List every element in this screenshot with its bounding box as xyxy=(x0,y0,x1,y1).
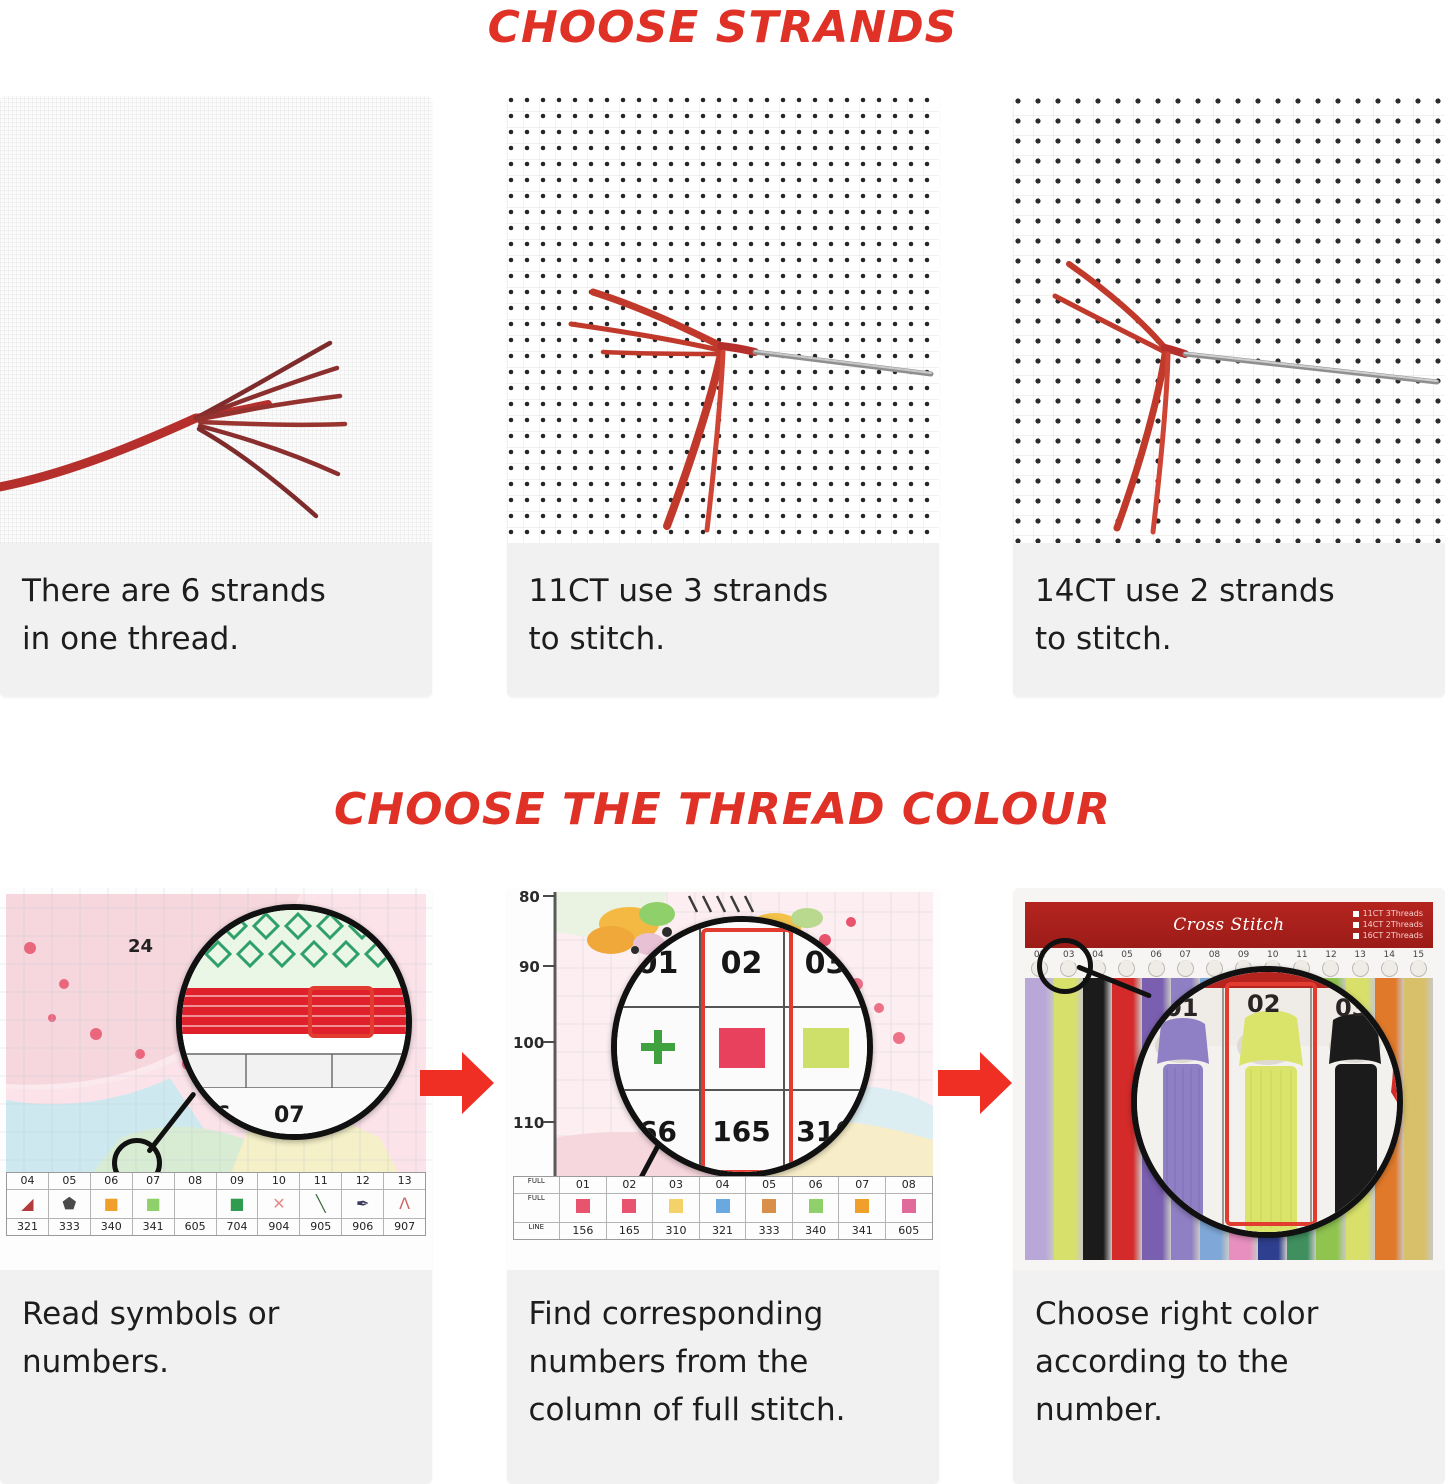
caption-line-2: in one thread. xyxy=(22,615,410,663)
checkbox-icon xyxy=(1353,922,1359,928)
thread-card-hole-label: 15 xyxy=(1413,950,1424,960)
caption-line-3: number. xyxy=(1035,1386,1423,1434)
lens-column-number: 02 xyxy=(701,922,783,1008)
strand-cards-row: There are 6 strands in one thread. xyxy=(0,96,1445,697)
thread-skein xyxy=(1404,978,1433,1260)
thread-skein xyxy=(1025,978,1054,1260)
needle xyxy=(1185,353,1437,382)
caption-find-numbers: Find corresponding numbers from the colu… xyxy=(507,1270,939,1484)
card-find-numbers: 80 90 100 110 01660216503310 xyxy=(507,888,939,1484)
caption-line-1: 11CT use 3 strands xyxy=(529,567,917,615)
legend-row-symbols: ◢⬟■■○■✕╲✒Λ xyxy=(7,1190,425,1219)
legend-code-cell: 704 xyxy=(217,1219,259,1235)
legend-number-cell: 06 xyxy=(793,1177,840,1194)
legend-symbol-cell xyxy=(607,1194,654,1223)
legend-number-cell: 08 xyxy=(175,1173,217,1190)
legend-code-cell: 156 xyxy=(560,1223,607,1239)
legend-symbol-cell: ╲ xyxy=(300,1190,342,1219)
lens-column-swatch-cell xyxy=(785,1008,867,1091)
legend-number-cell: 13 xyxy=(384,1173,425,1190)
legend-number-cell: 02 xyxy=(607,1177,654,1194)
legend-code-cell: 341 xyxy=(133,1219,175,1235)
svg-text:90: 90 xyxy=(519,958,540,976)
thread-card-hole-label: 11 xyxy=(1296,950,1307,960)
thread-card-hole-ring xyxy=(1410,960,1427,977)
photo-thread-card: Cross Stitch 11CT 3Threads14CT 2Threads1… xyxy=(1013,888,1445,1270)
lens-color-swatch xyxy=(803,1028,849,1068)
caption-read-symbols: Read symbols or numbers. xyxy=(0,1270,432,1484)
legend-number-cell: 05 xyxy=(49,1173,91,1190)
checkbox-icon xyxy=(1353,911,1359,917)
legend-color-swatch xyxy=(855,1199,869,1213)
legend-symbol-cell xyxy=(746,1194,793,1223)
legend-code-cell: 340 xyxy=(793,1223,840,1239)
thread-card-hole-label: 06 xyxy=(1150,950,1161,960)
caption-six-strands: There are 6 strands in one thread. xyxy=(0,543,432,697)
legend-symbol-cell xyxy=(839,1194,886,1223)
caption-line-2: numbers from the xyxy=(529,1338,917,1386)
legend-row-numbers-2: FULL0102030405060708 xyxy=(514,1177,932,1194)
thread-skein xyxy=(1083,978,1112,1260)
thread-card-option-label: 14CT 2Threads xyxy=(1363,919,1423,930)
svg-text:07: 07 xyxy=(274,1103,305,1128)
lens-color-swatch xyxy=(719,1028,765,1068)
card-11ct-three-strands: 11CT use 3 strands to stitch. xyxy=(507,96,939,697)
thread-card-header: Cross Stitch 11CT 3Threads14CT 2Threads1… xyxy=(1025,902,1433,948)
lens-column: 0166 xyxy=(617,922,701,1172)
legend-row-codes: 321333340341605704904905906907 xyxy=(7,1219,425,1235)
photo-11ct-three-strands xyxy=(507,96,939,543)
thread-card-title: Cross Stitch xyxy=(1173,915,1284,935)
legend-number-cell: 09 xyxy=(217,1173,259,1190)
checkbox-icon xyxy=(1353,933,1359,939)
legend-number-cell: 04 xyxy=(700,1177,747,1194)
svg-text:100: 100 xyxy=(513,1034,544,1052)
caption-line-2: to stitch. xyxy=(1035,615,1423,663)
caption-line-2: to stitch. xyxy=(529,615,917,663)
magnifier-lens-numbers: 01660216503310 xyxy=(611,916,873,1178)
legend-symbol-cell: ◢ xyxy=(7,1190,49,1219)
thread-card-hole-label: 14 xyxy=(1384,950,1395,960)
caption-line-1: There are 6 strands xyxy=(22,567,410,615)
thread-card-hole-label: 07 xyxy=(1180,950,1191,960)
thread-card-option-label: 16CT 2Threads xyxy=(1363,930,1423,941)
legend-code-cell: 605 xyxy=(886,1223,932,1239)
legend-code-cell: 907 xyxy=(384,1219,425,1235)
legend-number-cell: 01 xyxy=(560,1177,607,1194)
svg-text:01: 01 xyxy=(1165,994,1198,1022)
legend-code-cell: 321 xyxy=(7,1219,49,1235)
lens-column-code: 66 xyxy=(617,1091,699,1172)
legend-symbol-cell xyxy=(700,1194,747,1223)
legend-color-swatch xyxy=(622,1199,636,1213)
legend-number-cell: 05 xyxy=(746,1177,793,1194)
legend-symbol-cell: ✕ xyxy=(258,1190,300,1219)
legend-row-label: LINE xyxy=(514,1223,561,1239)
magnifier-lens-skeins: 01 02 03 xyxy=(1131,966,1403,1238)
legend-color-swatch xyxy=(669,1199,683,1213)
needle xyxy=(755,351,931,374)
legend-color-swatch xyxy=(809,1199,823,1213)
thread-card-hole-label: 10 xyxy=(1267,950,1278,960)
arrow-right-icon-1 xyxy=(418,1048,496,1118)
legend-number-cell: 12 xyxy=(342,1173,384,1190)
arrow-right-icon-2 xyxy=(936,1048,1014,1118)
legend-symbol-cell xyxy=(793,1194,840,1223)
thread-card-option-label: 11CT 3Threads xyxy=(1363,908,1423,919)
svg-text:02: 02 xyxy=(1247,990,1280,1018)
legend-color-swatch xyxy=(762,1199,776,1213)
legend-code-cell: 904 xyxy=(258,1219,300,1235)
legend-number-cell: 07 xyxy=(839,1177,886,1194)
legend-number-cell: 07 xyxy=(133,1173,175,1190)
thread-card-hole-label: 05 xyxy=(1121,950,1132,960)
svg-text:80: 80 xyxy=(519,888,540,906)
legend-symbol-cell: ✒ xyxy=(342,1190,384,1219)
lens-column: 02165 xyxy=(701,922,785,1172)
thread-skein xyxy=(1054,978,1083,1260)
cross-symbol-icon xyxy=(635,1026,681,1070)
floss-three-strands-with-needle-illustration xyxy=(507,96,939,543)
legend-symbol-cell: ■ xyxy=(217,1190,259,1219)
thread-card-option: 16CT 2Threads xyxy=(1353,930,1423,941)
thread-card-options: 11CT 3Threads14CT 2Threads16CT 2Threads xyxy=(1353,908,1423,941)
legend-symbol-cell: ○ xyxy=(175,1190,217,1219)
legend-number-cell: 08 xyxy=(886,1177,932,1194)
legend-symbol-cell: ⬟ xyxy=(49,1190,91,1219)
legend-color-swatch xyxy=(576,1199,590,1213)
thread-card-option: 14CT 2Threads xyxy=(1353,919,1423,930)
legend-table-numbers: FULL0102030405060708 FULL LINE1561653103… xyxy=(513,1176,933,1240)
legend-number-cell: 03 xyxy=(653,1177,700,1194)
caption-choose-color: Choose right color according to the numb… xyxy=(1013,1270,1445,1484)
page-title-choose-strands: CHOOSE STRANDS xyxy=(0,2,1445,53)
legend-code-cell: 333 xyxy=(49,1219,91,1235)
thread-card-hole-label: 12 xyxy=(1325,950,1336,960)
lens-column-code: 165 xyxy=(701,1091,783,1172)
legend-symbol-cell xyxy=(560,1194,607,1223)
legend-code-cell: 340 xyxy=(91,1219,133,1235)
colour-cards-row: 24 xyxy=(0,888,1445,1484)
card-14ct-two-strands: 14CT use 2 strands to stitch. xyxy=(1013,96,1445,697)
legend-code-cell: 321 xyxy=(700,1223,747,1239)
legend-symbol-cell: ■ xyxy=(133,1190,175,1219)
card-six-strands: There are 6 strands in one thread. xyxy=(0,96,432,697)
caption-line-2: according to the xyxy=(1035,1338,1423,1386)
legend-symbol-cell xyxy=(653,1194,700,1223)
legend-symbol-cell: ■ xyxy=(91,1190,133,1219)
legend-code-cell: 341 xyxy=(839,1223,886,1239)
caption-line-1: Choose right color xyxy=(1035,1290,1423,1338)
legend-symbol-cell: Λ xyxy=(384,1190,425,1219)
legend-number-cell: 04 xyxy=(7,1173,49,1190)
lens-column-number: 03 xyxy=(785,922,867,1008)
legend-symbol-cell xyxy=(886,1194,932,1223)
caption-line-2: numbers. xyxy=(22,1338,410,1386)
lens-column: 03310 xyxy=(785,922,867,1172)
caption-line-1: Read symbols or xyxy=(22,1290,410,1338)
legend-row-label: FULL xyxy=(514,1194,561,1223)
caption-11ct-three-strands: 11CT use 3 strands to stitch. xyxy=(507,543,939,697)
caption-line-1: 14CT use 2 strands xyxy=(1035,567,1423,615)
lens-column-swatch-cell xyxy=(617,1008,699,1091)
caption-line-1: Find corresponding xyxy=(529,1290,917,1338)
floss-two-strands-with-needle-illustration xyxy=(1013,96,1445,543)
photo-pattern-chart-symbols: 24 xyxy=(0,888,432,1270)
legend-number-cell: 11 xyxy=(300,1173,342,1190)
legend-code-cell: 310 xyxy=(653,1223,700,1239)
legend-code-cell: 333 xyxy=(746,1223,793,1239)
lens-skein-numbers: 01 02 03 xyxy=(1165,990,1368,1022)
svg-text:03: 03 xyxy=(1335,994,1368,1022)
card-choose-color: Cross Stitch 11CT 3Threads14CT 2Threads1… xyxy=(1013,888,1445,1484)
legend-number-cell: 06 xyxy=(91,1173,133,1190)
thread-card-hole-label: 04 xyxy=(1092,950,1103,960)
legend-color-swatch xyxy=(902,1199,916,1213)
photo-14ct-two-strands xyxy=(1013,96,1445,543)
thread-card-hole-label: 13 xyxy=(1354,950,1365,960)
lens-column-swatch-cell xyxy=(701,1008,783,1091)
legend-code-cell: 165 xyxy=(607,1223,654,1239)
legend-code-cell: 906 xyxy=(342,1219,384,1235)
thread-card-hole-label: 08 xyxy=(1209,950,1220,960)
chart-marker-24: 24 xyxy=(128,936,153,957)
legend-row-symbols-2: FULL xyxy=(514,1194,932,1223)
page-title-choose-thread-colour: CHOOSE THE THREAD COLOUR xyxy=(0,784,1445,835)
svg-text:110: 110 xyxy=(513,1114,544,1132)
caption-line-3: column of full stitch. xyxy=(529,1386,917,1434)
legend-code-cell: 905 xyxy=(300,1219,342,1235)
legend-row-numbers: 04050607080910111213 xyxy=(7,1173,425,1190)
legend-color-swatch xyxy=(716,1199,730,1213)
lens-column-number: 01 xyxy=(617,922,699,1008)
floss-six-strands-illustration xyxy=(0,96,432,543)
caption-14ct-two-strands: 14CT use 2 strands to stitch. xyxy=(1013,543,1445,697)
thread-card-hole-ring xyxy=(1118,960,1135,977)
photo-pattern-chart-numbers: 80 90 100 110 01660216503310 xyxy=(507,888,939,1270)
legend-code-cell: 605 xyxy=(175,1219,217,1235)
lens-number-columns: 01660216503310 xyxy=(617,922,867,1172)
legend-number-cell: 10 xyxy=(258,1173,300,1190)
card-read-symbols: 24 xyxy=(0,888,432,1484)
thread-card-option: 11CT 3Threads xyxy=(1353,908,1423,919)
legend-table-symbols: 04050607080910111213 ◢⬟■■○■✕╲✒Λ 32133334… xyxy=(6,1172,426,1236)
thread-card-hole-label: 09 xyxy=(1238,950,1249,960)
magnifier-lens-symbols: 06 07 xyxy=(176,904,412,1140)
legend-row-label: FULL xyxy=(514,1177,561,1194)
legend-row-codes-2: LINE156165310321333340341605 xyxy=(514,1223,932,1239)
photo-six-strands xyxy=(0,96,432,543)
thread-card-hole: 15 xyxy=(1404,950,1433,980)
lens-column-code: 310 xyxy=(785,1091,867,1172)
